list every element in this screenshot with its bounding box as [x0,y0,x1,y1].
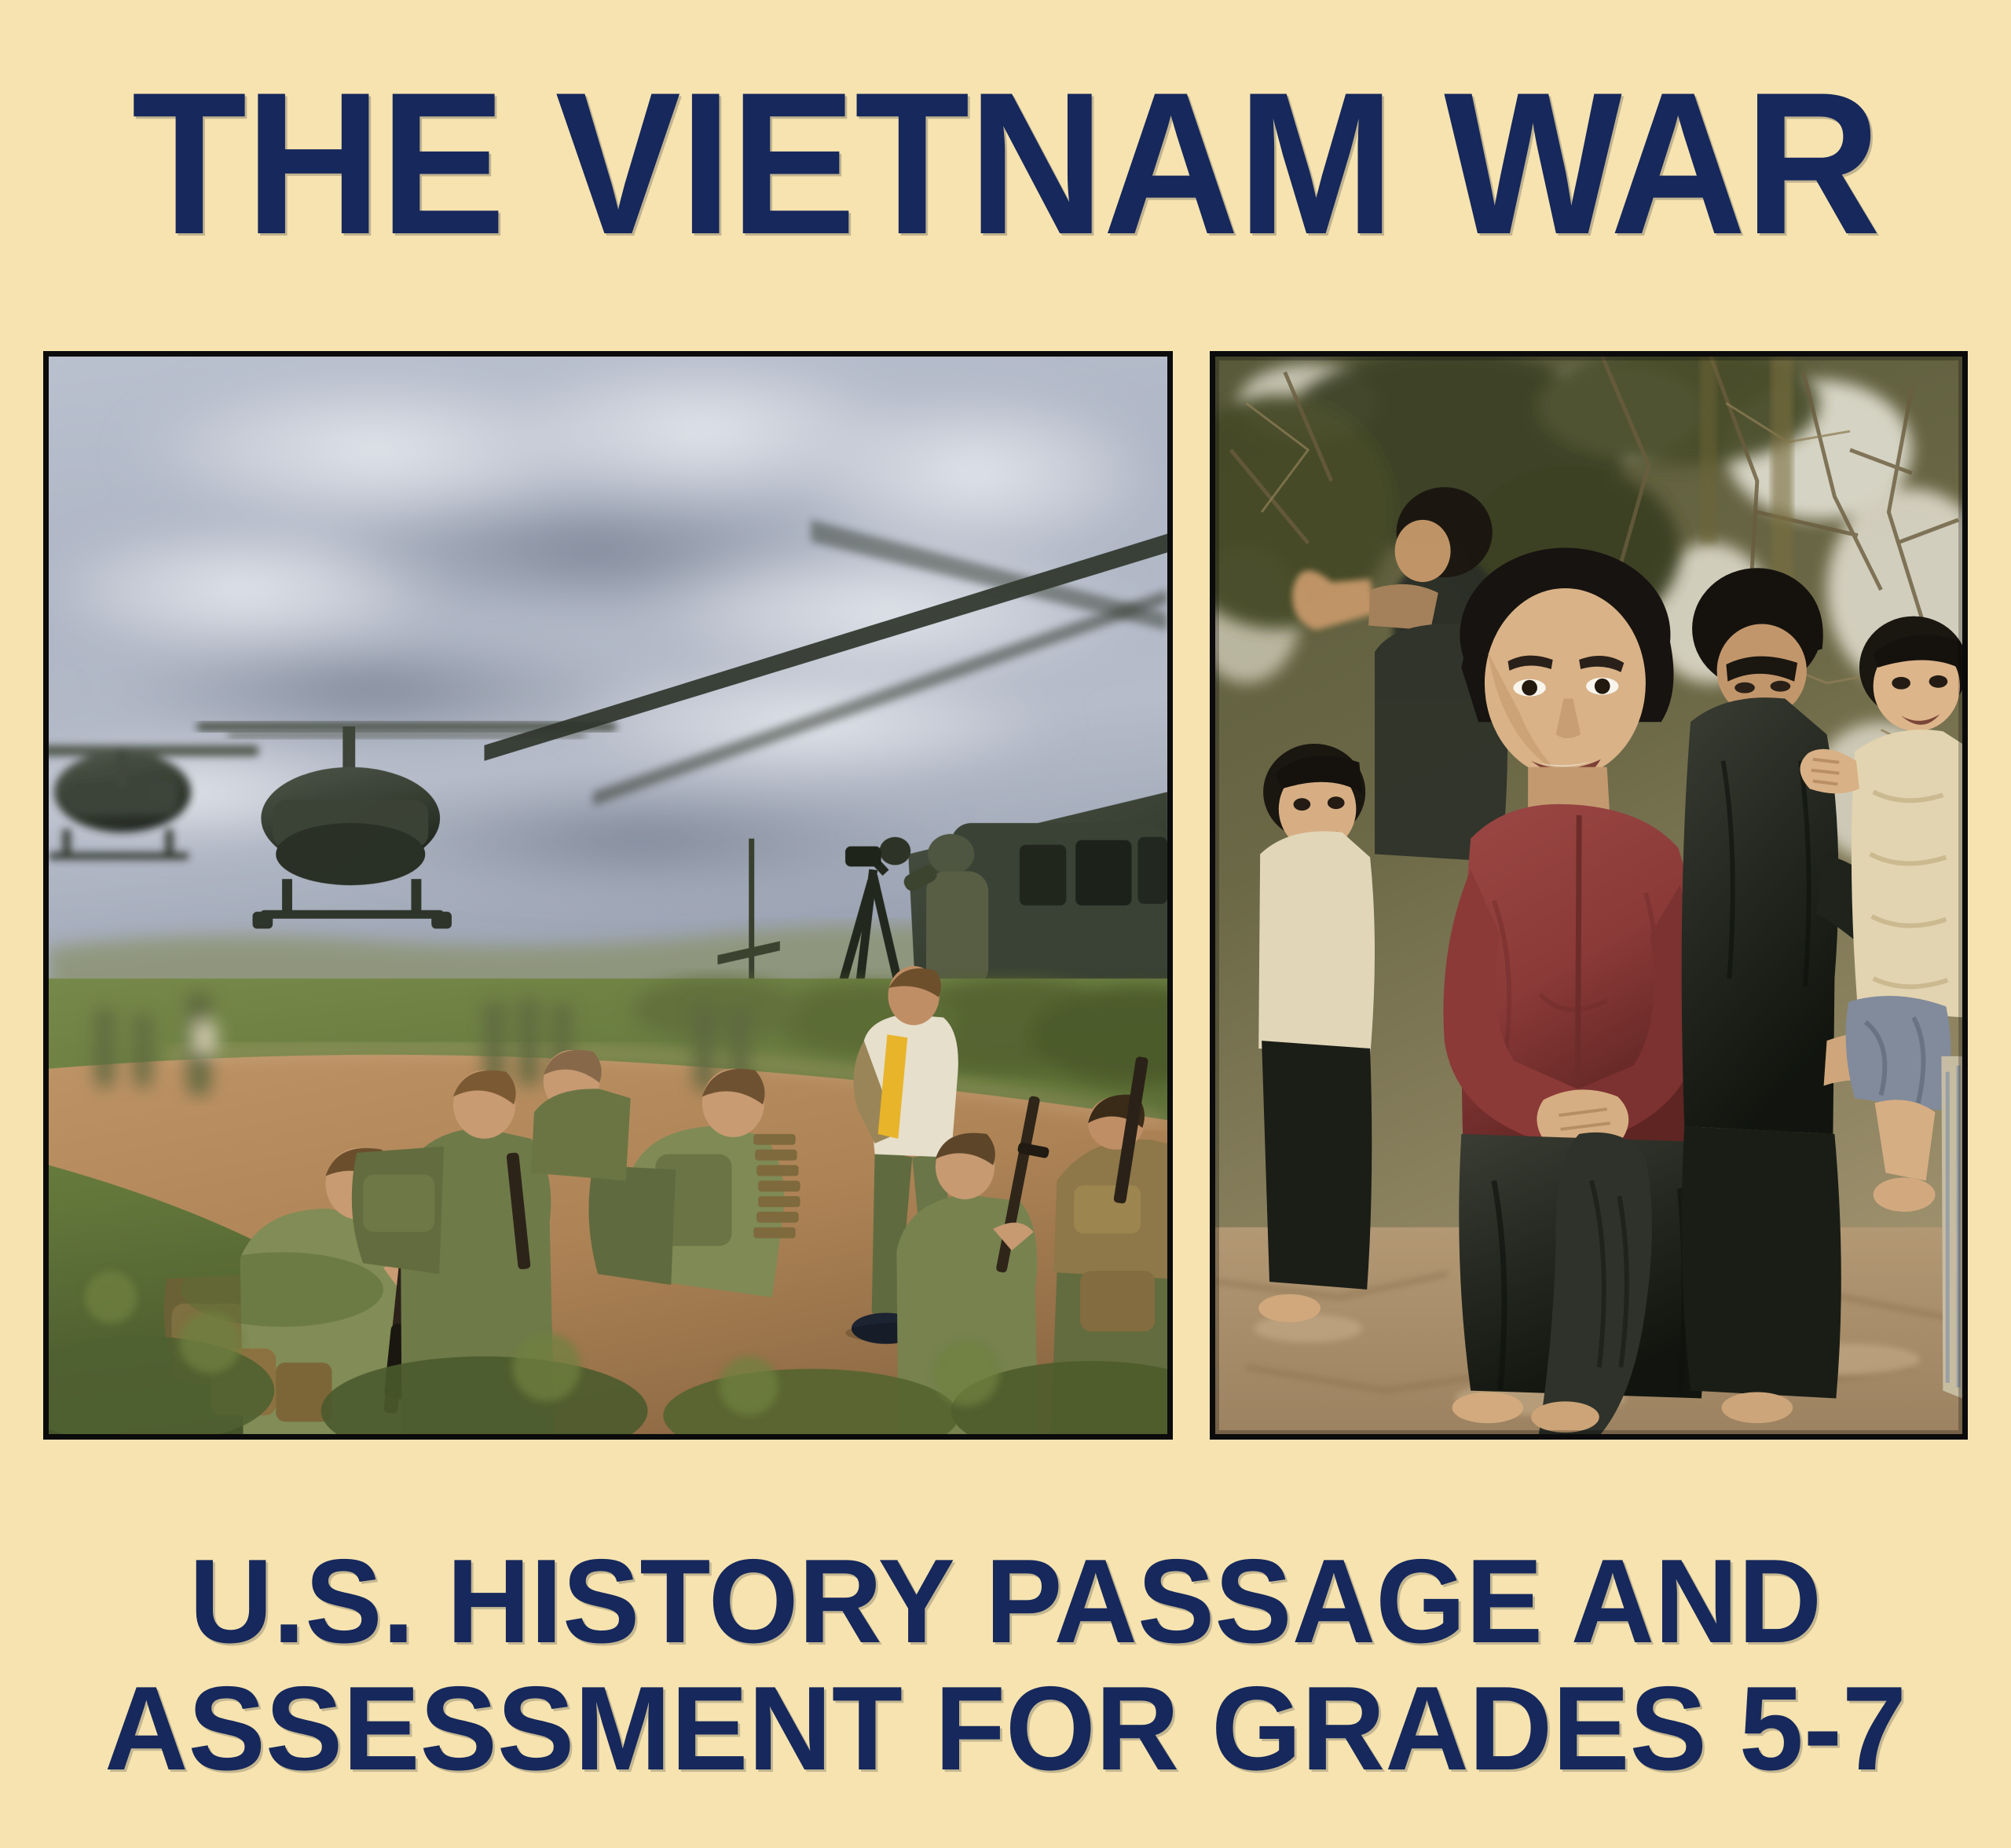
civilians-scene-illustration [1215,357,1962,1434]
vietnamese-civilians-photo [1210,351,1968,1440]
subtitle-line-2: ASSESSMENT FOR GRADES 5-7 [30,1665,1980,1792]
helicopter-scene-illustration [49,357,1167,1434]
page-title: THE VIETNAM WAR [71,72,1941,254]
helicopter-landing-zone-photo [43,351,1173,1440]
photo-row [0,351,2011,1443]
front-woman [1443,548,1705,1434]
poster-root: THE VIETNAM WAR [0,0,2011,1848]
subtitle-line-1: U.S. HISTORY PASSAGE AND [30,1538,1980,1665]
subtitle: U.S. HISTORY PASSAGE AND ASSESSMENT FOR … [30,1538,1980,1792]
